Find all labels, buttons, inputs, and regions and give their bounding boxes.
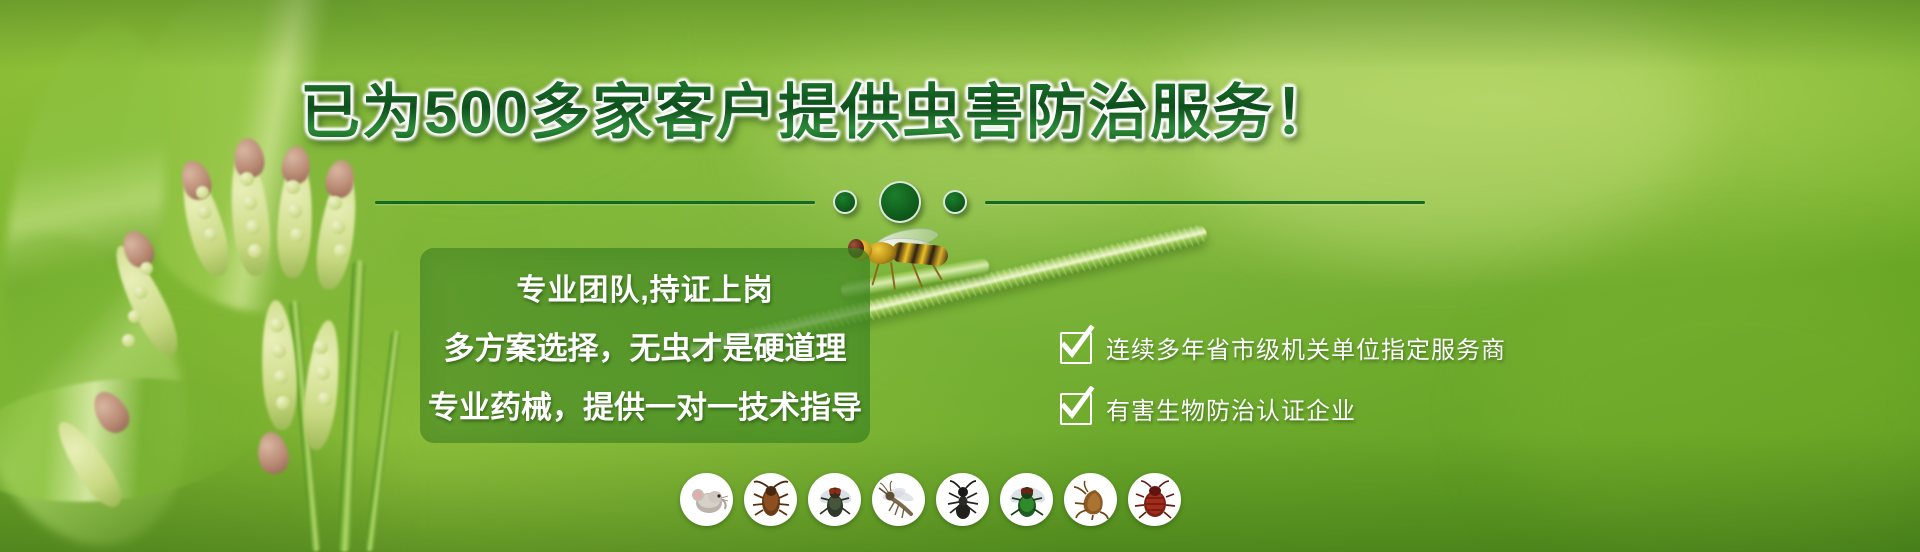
selling-points-panel: 专业团队,持证上岗 多方案选择，无虫才是硬道理 专业药械，提供一对一技术指导 <box>420 248 870 443</box>
list-item: 连续多年省市级机关单位指定服务商 <box>1060 330 1506 365</box>
seed-grain <box>122 334 135 347</box>
hoverfly-abdomen <box>891 242 949 267</box>
seed-grain <box>140 262 153 275</box>
seed-grain <box>198 206 211 219</box>
seed-grain <box>331 220 345 234</box>
certification-label: 连续多年省市级机关单位指定服务商 <box>1106 330 1506 365</box>
seed-grain <box>276 396 290 410</box>
hoverfly-leg <box>890 262 896 290</box>
certification-label: 有害生物防治认证企业 <box>1106 391 1356 426</box>
divider-dot-large <box>879 181 921 223</box>
ant-icon[interactable] <box>936 473 989 526</box>
seed-grain <box>128 310 141 323</box>
seed-grain <box>314 340 328 354</box>
mosquito-icon[interactable] <box>872 473 925 526</box>
promo-banner: 已为500多家客户提供虫害防治服务！ 已为500多家客户提供虫害防治服务！ 专业… <box>0 0 1920 552</box>
page-title: 已为500多家客户提供虫害防治服务！ 已为500多家客户提供虫害防治服务！ <box>300 74 1560 152</box>
plant-stem <box>337 260 365 552</box>
decorative-divider <box>240 183 1560 221</box>
divider-line-left <box>375 201 815 204</box>
panel-line-1: 专业团队,持证上岗 <box>516 265 773 309</box>
seed-grain <box>272 344 286 358</box>
cockroach-icon[interactable] <box>744 473 797 526</box>
seed-grain <box>274 370 288 384</box>
panel-line-3: 专业药械，提供一对一技术指导 <box>428 382 862 427</box>
seed-grain <box>334 244 348 258</box>
certification-list: 连续多年省市级机关单位指定服务商 有害生物防治认证企业 <box>1060 330 1506 426</box>
seed-grain <box>318 392 332 406</box>
divider-line-right <box>985 201 1425 204</box>
seed-grain <box>204 228 217 241</box>
check-square-icon <box>1060 332 1092 364</box>
seed-grain <box>248 244 262 258</box>
check-square-icon <box>1060 393 1092 425</box>
hoverfly-leg <box>871 262 880 286</box>
seed-grain <box>196 186 209 199</box>
seed-grain <box>134 286 147 299</box>
divider-dot-small <box>943 190 967 214</box>
list-item: 有害生物防治认证企业 <box>1060 391 1506 426</box>
pest-icon-row <box>680 473 1181 526</box>
seed-grain <box>316 366 330 380</box>
bedbug-icon[interactable] <box>1128 473 1181 526</box>
fly-icon[interactable] <box>808 473 861 526</box>
seed-grain <box>270 318 284 332</box>
seed-grain <box>290 228 304 242</box>
seed-cluster <box>255 430 292 477</box>
seed-cluster <box>299 319 344 452</box>
flea-icon[interactable] <box>1064 473 1117 526</box>
blowfly-icon[interactable] <box>1000 473 1053 526</box>
headline-text: 已为500多家客户提供虫害防治服务！ <box>300 74 1560 152</box>
divider-dot-small <box>833 190 857 214</box>
panel-line-2: 多方案选择，无虫才是硬道理 <box>444 323 847 368</box>
seed-grain <box>246 220 260 234</box>
plant-stem <box>365 330 401 551</box>
mouse-icon[interactable] <box>680 473 733 526</box>
